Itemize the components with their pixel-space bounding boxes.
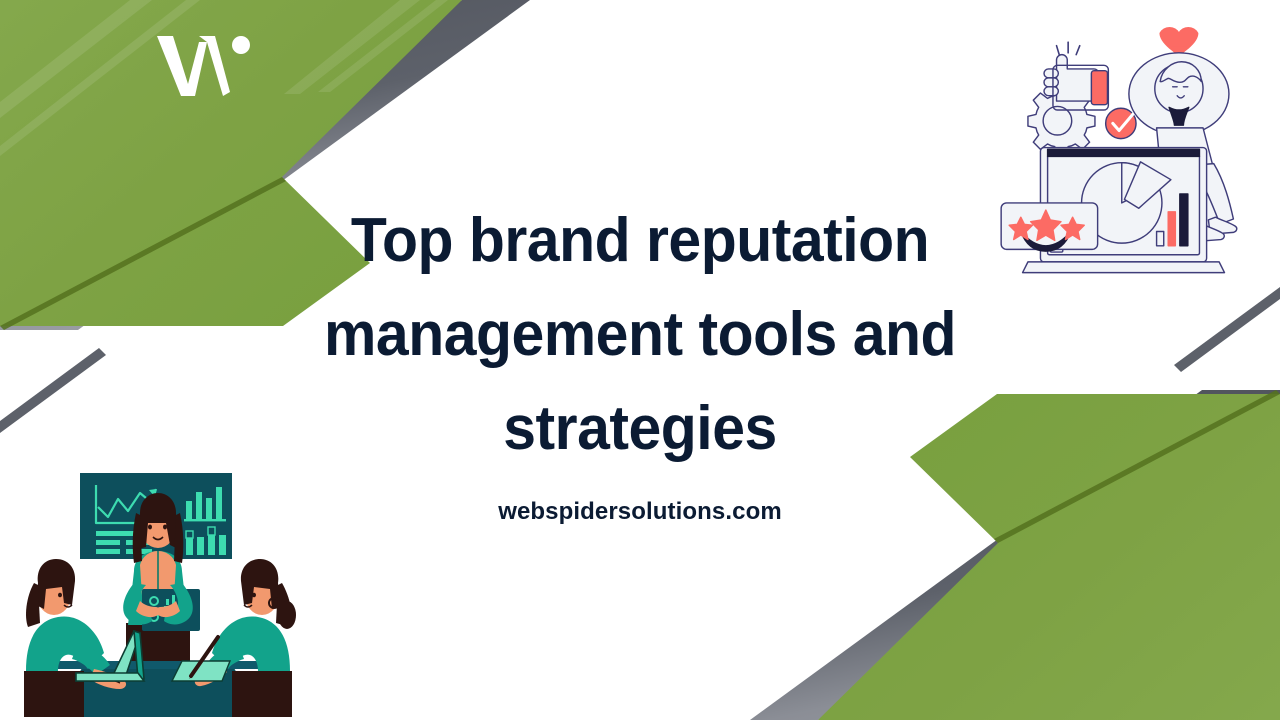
page-title: Top brand reputation management tools an… bbox=[246, 194, 1035, 477]
site-url[interactable]: webspidersolutions.com bbox=[498, 498, 782, 526]
social-banner-canvas: Top brand reputation management tools an… bbox=[0, 0, 1280, 720]
headline-block: Top brand reputation management tools an… bbox=[0, 0, 1280, 720]
